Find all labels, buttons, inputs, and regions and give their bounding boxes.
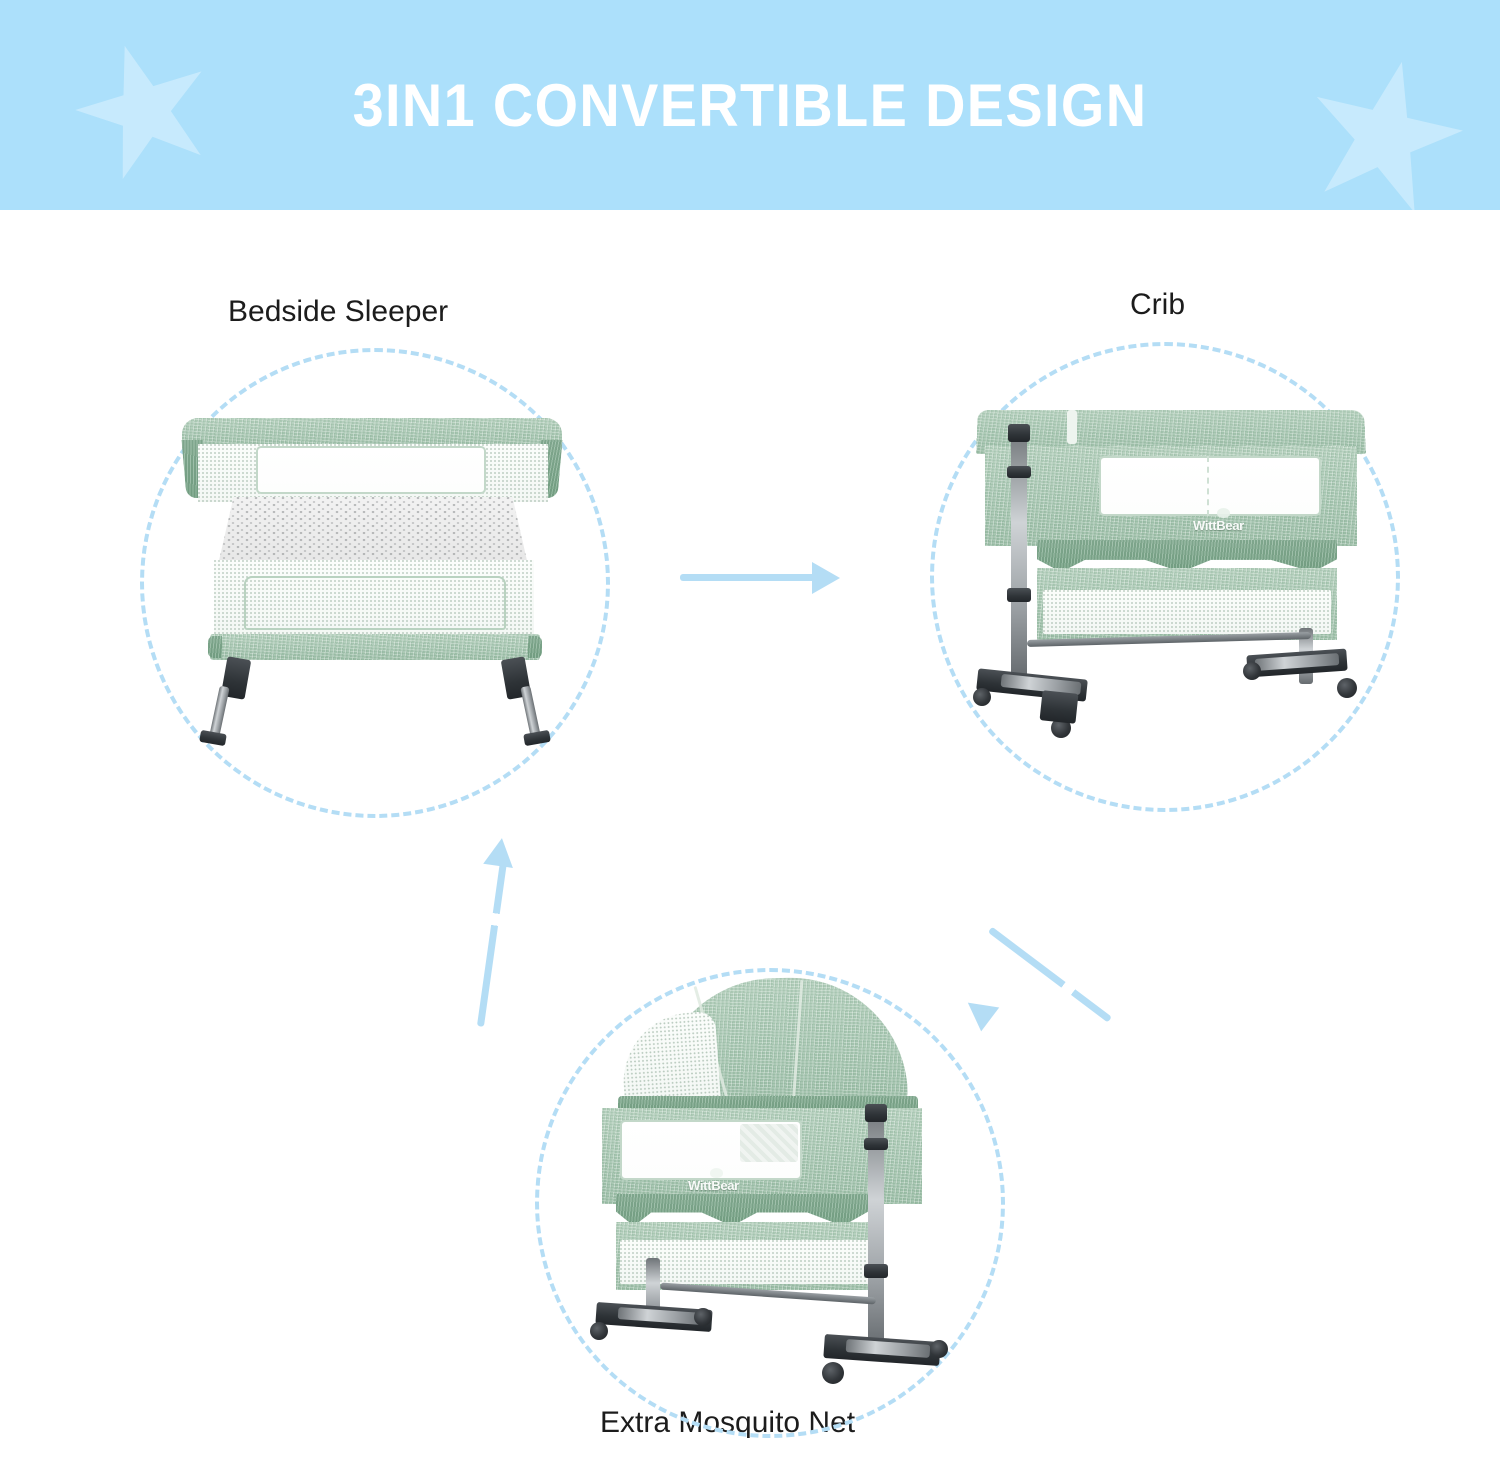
arrow-up-icon bbox=[477, 862, 507, 1027]
crib-brand-logo: WittBear bbox=[1193, 518, 1244, 533]
crib-wheel-right-back bbox=[1337, 678, 1357, 698]
product-diagram: Bedside Sleeper Crib Extra Mosquito Net bbox=[0, 210, 1500, 1484]
sleeper-front-panel-outline bbox=[244, 576, 506, 630]
arrow-down-left-icon bbox=[988, 927, 1112, 1023]
sleeper-base-right-cap bbox=[528, 636, 542, 658]
net-window-pattern bbox=[740, 1124, 798, 1162]
sleeper-mattress bbox=[218, 497, 528, 565]
net-right-post-clamp-c bbox=[864, 1264, 888, 1278]
crib-wheel-left-front bbox=[973, 688, 991, 706]
arrow-right-icon bbox=[680, 574, 820, 581]
crib-window-divider bbox=[1099, 456, 1209, 516]
crib-wheel-right-front bbox=[1243, 662, 1261, 680]
net-wheel-right-front bbox=[930, 1340, 948, 1358]
net-wheel-left-front bbox=[590, 1322, 608, 1340]
net-wheel-right-back bbox=[822, 1362, 844, 1384]
product-crib: WittBear bbox=[955, 388, 1385, 808]
product-mosquito-net: WittBear bbox=[560, 972, 990, 1432]
crib-left-post-top-clamp bbox=[1008, 424, 1030, 442]
header-banner: 3IN1 CONVERTIBLE DESIGN bbox=[0, 0, 1500, 210]
sleeper-base-rail bbox=[210, 634, 540, 660]
product-bedside-sleeper bbox=[160, 400, 590, 800]
crib-base-left-foot bbox=[1040, 690, 1079, 724]
sleeper-back-window bbox=[256, 446, 486, 494]
crib-left-post-clamp-c bbox=[1007, 588, 1031, 602]
crib-top-zip-tab bbox=[1067, 410, 1077, 444]
net-brand-logo: WittBear bbox=[688, 1178, 739, 1193]
arrow-up-head bbox=[483, 836, 517, 868]
net-right-post-top-clamp bbox=[865, 1104, 887, 1122]
bear-icon bbox=[1217, 508, 1230, 518]
net-mesh-panel bbox=[619, 1011, 721, 1109]
caption-bedside-sleeper: Bedside Sleeper bbox=[228, 295, 448, 329]
sleeper-leg-right-foot bbox=[523, 730, 551, 746]
crib-left-post-clamp-b bbox=[1007, 466, 1031, 478]
page-title: 3IN1 CONVERTIBLE DESIGN bbox=[53, 0, 1448, 210]
net-right-post-clamp-b bbox=[864, 1138, 888, 1150]
sleeper-base-left-cap bbox=[208, 636, 222, 658]
bear-icon bbox=[710, 1168, 723, 1178]
sleeper-leg-left-foot bbox=[199, 730, 227, 746]
net-wheel-left-back bbox=[694, 1308, 712, 1326]
arrow-right-head bbox=[812, 562, 840, 594]
caption-crib: Crib bbox=[1130, 288, 1185, 322]
crib-lower-mesh bbox=[1043, 590, 1331, 634]
